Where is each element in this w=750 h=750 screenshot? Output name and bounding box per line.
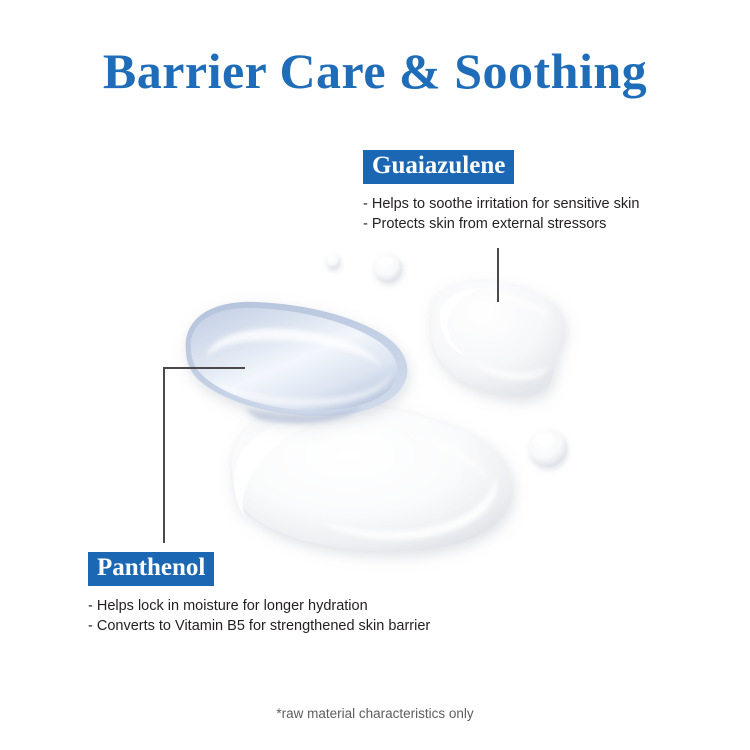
bubble-medium: [374, 254, 402, 282]
cosmetic-texture-artwork: [0, 0, 750, 750]
bullet-item: - Protects skin from external stressors: [363, 215, 639, 235]
page-title: Barrier Care & Soothing: [0, 42, 750, 100]
ingredient-name-guaiazulene: Guaiazulene: [363, 150, 514, 184]
bullet-item: - Helps lock in moisture for longer hydr…: [88, 597, 430, 617]
ingredient-bullets-guaiazulene: - Helps to soothe irritation for sensiti…: [363, 195, 639, 234]
bubble-large: [529, 429, 567, 467]
bullet-item: - Converts to Vitamin B5 for strengthene…: [88, 617, 430, 637]
bullet-item: - Helps to soothe irritation for sensiti…: [363, 195, 639, 215]
leader-line-panthenol-vertical: [163, 367, 165, 543]
infographic-page: Barrier Care & Soothing Guaiazulene - He…: [0, 0, 750, 750]
footnote-disclaimer: *raw material characteristics only: [0, 706, 750, 721]
leader-line-panthenol-horizontal: [163, 367, 245, 369]
bubble-small: [326, 254, 340, 268]
ingredient-bullets-panthenol: - Helps lock in moisture for longer hydr…: [88, 597, 430, 636]
leader-line-guaiazulene: [497, 248, 499, 302]
ingredient-block-panthenol: Panthenol - Helps lock in moisture for l…: [88, 552, 430, 636]
ingredient-block-guaiazulene: Guaiazulene - Helps to soothe irritation…: [363, 150, 639, 234]
cream-swirl-blob: [232, 402, 512, 552]
ingredient-name-panthenol: Panthenol: [88, 552, 214, 586]
blue-gel-blob: [186, 302, 408, 424]
